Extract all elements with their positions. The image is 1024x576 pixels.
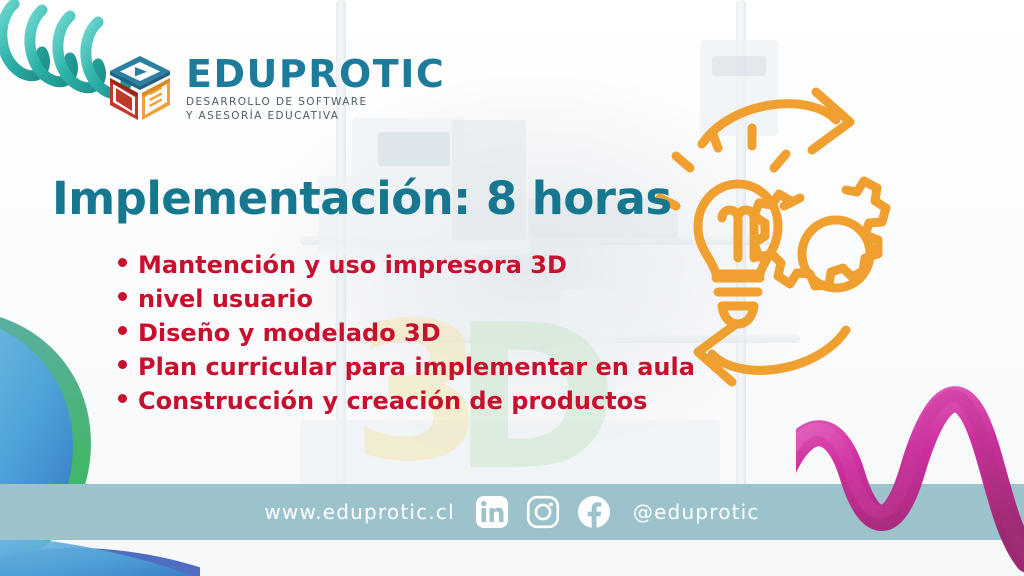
social-handle[interactable]: @eduprotic bbox=[633, 500, 760, 524]
list-item-label: Construcción y creación de productos bbox=[138, 384, 647, 418]
page-title: Implementación: 8 horas bbox=[52, 172, 672, 225]
list-item-label: nivel usuario bbox=[138, 282, 313, 316]
brand-logo[interactable]: EDUPROTIC DESARROLLO DE SOFTWARE Y ASESO… bbox=[104, 54, 445, 124]
list-item: Diseño y modelado 3D bbox=[118, 316, 695, 350]
bullet-dot-icon bbox=[118, 292, 127, 301]
list-item-label: Diseño y modelado 3D bbox=[138, 316, 441, 350]
magenta-wave-squiggle-graphic bbox=[796, 352, 1024, 576]
instagram-icon[interactable] bbox=[526, 495, 560, 529]
cycle-arrow-top bbox=[702, 104, 836, 144]
brand-tagline: DESARROLLO DE SOFTWARE Y ASESORÍA EDUCAT… bbox=[186, 96, 445, 123]
list-item: Mantención y uso impresora 3D bbox=[118, 248, 695, 282]
bullet-list: Mantención y uso impresora 3D nivel usua… bbox=[118, 248, 695, 418]
brand-name: EDUPROTIC bbox=[186, 55, 445, 93]
website-url[interactable]: www.eduprotic.cl bbox=[264, 500, 455, 524]
printer-block-b bbox=[378, 132, 450, 166]
facebook-icon[interactable] bbox=[577, 495, 611, 529]
printer-block-f bbox=[712, 56, 766, 76]
brand-logo-text: EDUPROTIC DESARROLLO DE SOFTWARE Y ASESO… bbox=[186, 55, 445, 123]
bullet-dot-icon bbox=[118, 360, 127, 369]
list-item-label: Plan curricular para implementar en aula bbox=[138, 350, 695, 384]
bullet-dot-icon bbox=[118, 394, 127, 403]
isometric-books-cube-icon bbox=[104, 54, 176, 124]
list-item: Plan curricular para implementar en aula bbox=[118, 350, 695, 384]
gear-hole bbox=[802, 220, 870, 288]
list-item-label: Mantención y uso impresora 3D bbox=[138, 248, 567, 282]
list-item: Construcción y creación de productos bbox=[118, 384, 695, 418]
bullet-dot-icon bbox=[118, 326, 127, 335]
linkedin-icon[interactable] bbox=[475, 495, 509, 529]
slide-canvas: 3 D bbox=[0, 0, 1024, 576]
list-item: nivel usuario bbox=[118, 282, 695, 316]
bullet-dot-icon bbox=[118, 258, 127, 267]
